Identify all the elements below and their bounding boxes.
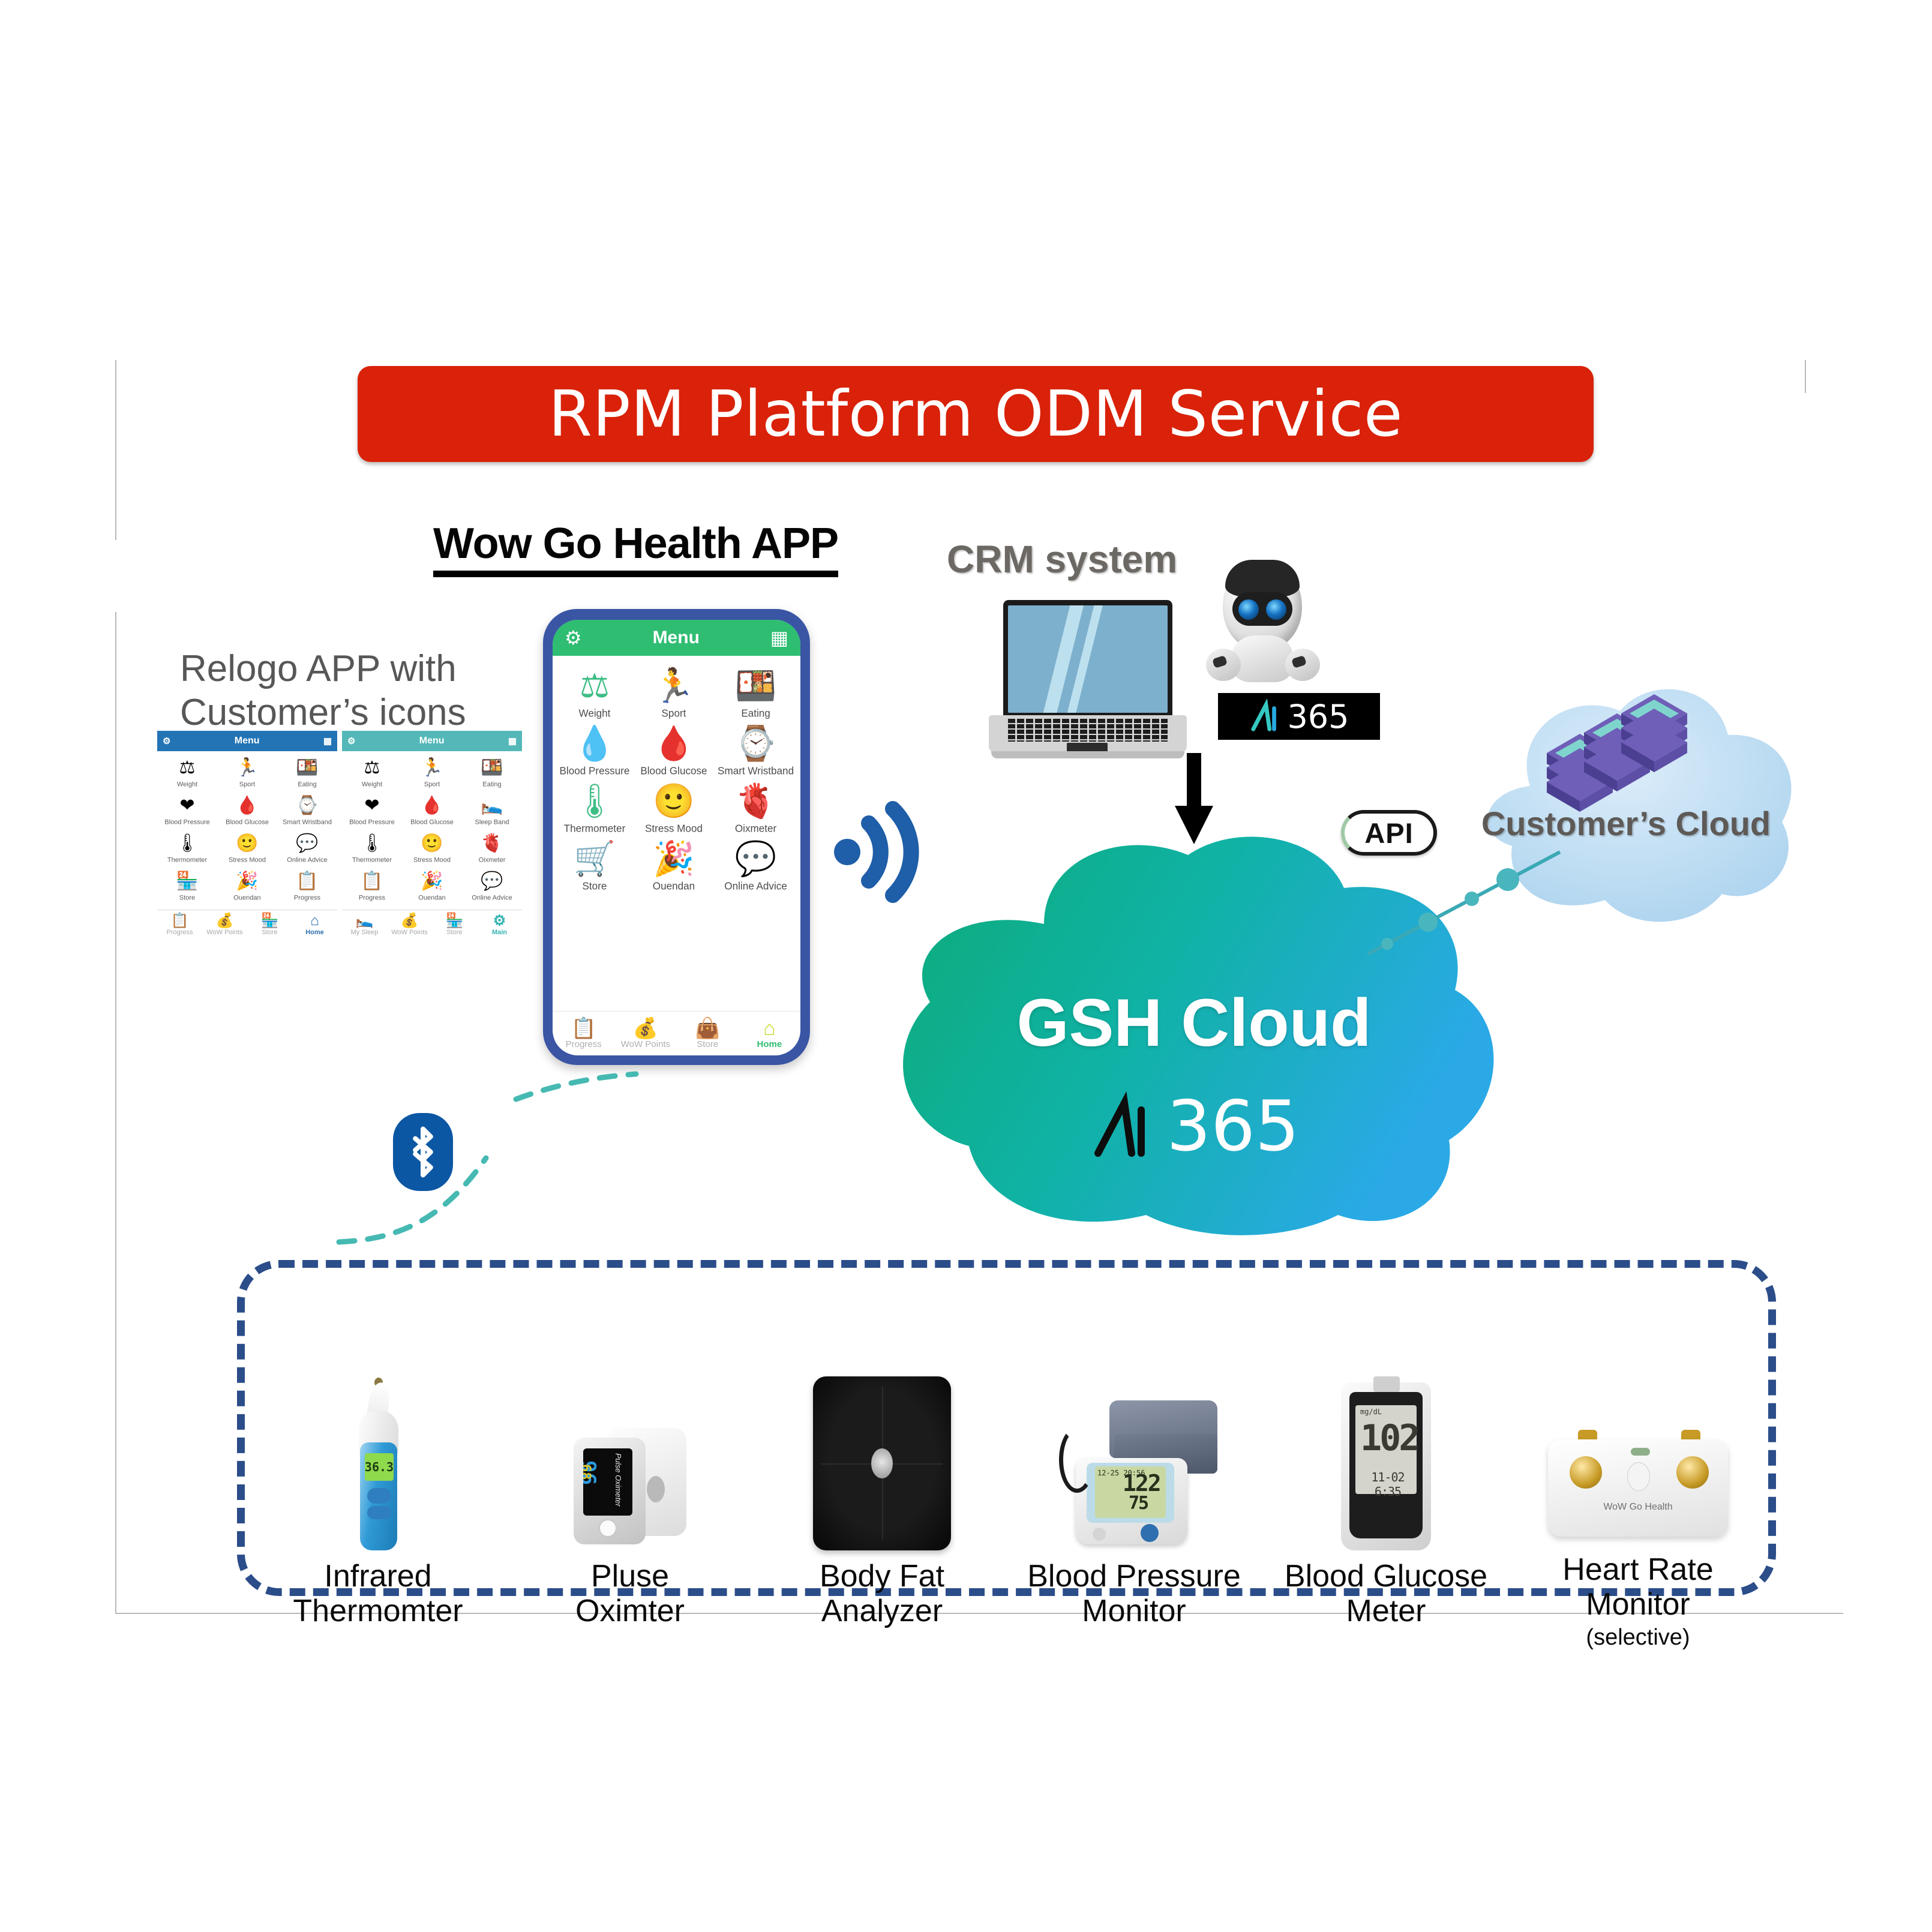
bp-drop-icon: 💧 xyxy=(555,724,634,763)
mini-app-2-item[interactable]: 🏃Sport xyxy=(402,755,462,793)
hrm-brand-label: WoW Go Health xyxy=(1548,1502,1728,1513)
relogo-heading-line1: Relogo APP with xyxy=(180,647,516,691)
mini-app-nav-label: Store xyxy=(262,929,277,936)
mini-app-2-item[interactable]: 🫀Oixmeter xyxy=(462,830,522,868)
ai-mark xyxy=(1249,699,1283,734)
phone-menu-item-label: Weight xyxy=(559,708,631,720)
glucose-drop-icon: 🩸 xyxy=(634,724,713,763)
blood-pressure-monitor-icon: 12-25 20:56 122 75 xyxy=(1008,1370,1260,1550)
mini-app-2-item[interactable]: 🌡Thermometer xyxy=(342,830,402,868)
phone-nav-label: WoW Points xyxy=(621,1039,670,1049)
device-label: Pluse Oximter xyxy=(504,1559,756,1630)
bp-diastolic: 75 xyxy=(1129,1493,1148,1514)
runner-icon: 🏃 xyxy=(634,667,713,705)
phone-menu-item[interactable]: 🏃Sport xyxy=(634,667,713,721)
gear-icon[interactable]: ⚙ xyxy=(565,626,582,649)
mini-app-item-label: Blood Pressure xyxy=(344,818,400,826)
oximeter-screen-title: Pulse Oximeter xyxy=(614,1453,623,1507)
mini-app-item-label: Sleep Band xyxy=(464,818,520,826)
qr-icon[interactable]: ▦ xyxy=(323,736,332,746)
phone-menu-item-label: Smart Wristband xyxy=(718,766,794,778)
page-title: RPM Platform ODM Service xyxy=(548,377,1403,451)
sleep-icon: 🛌 xyxy=(462,794,522,817)
bp-monitor-icon: ❤ xyxy=(342,794,402,817)
mini-app-nav-label: WoW Points xyxy=(206,929,242,936)
device-label: Blood Glucose Meter xyxy=(1260,1559,1512,1630)
mini-app-2-item[interactable]: 🍱Eating xyxy=(462,755,522,793)
mini-app-1-item[interactable]: 🏃Sport xyxy=(217,755,277,793)
phone-nav-label: Progress xyxy=(566,1039,602,1049)
phone-nav-label: Store xyxy=(697,1039,718,1049)
mini-app-2-title: Menu xyxy=(355,736,508,746)
phone-menu-item[interactable]: ⚖Weight xyxy=(555,667,634,721)
mini-app-nav-label: Main xyxy=(492,929,507,936)
glucose-meter-icon: 🩸 xyxy=(217,794,277,817)
bp-monitor-icon: ❤ xyxy=(157,794,217,817)
device-pulse-oximeter[interactable]: Pulse Oximeter 96 68 Pluse Oximter xyxy=(504,1370,756,1630)
face-icon: 🙂 xyxy=(634,782,713,820)
mini-app-2-grid: ⚖Weight🏃Sport🍱Eating❤Blood Pressure🩸Bloo… xyxy=(342,751,522,906)
device-label: Body Fat Analyzer xyxy=(756,1559,1008,1630)
chat-advice-icon: 💬 xyxy=(277,832,337,855)
phone-menu-item-label: Thermometer xyxy=(559,823,631,835)
mini-app-2-item[interactable]: 📋Progress xyxy=(342,868,402,906)
device-label-line1: Pluse xyxy=(504,1559,756,1594)
mini-app-item-label: Online Advice xyxy=(464,894,520,902)
device-label-line2: Analyzer xyxy=(756,1594,1008,1629)
phone-menu-item-label: Online Advice xyxy=(718,881,794,893)
face-icon: 🙂 xyxy=(402,832,462,855)
phone-menu-item[interactable]: 🛒Store xyxy=(555,839,634,893)
mini-app-1-header: ⚙ Menu ▦ xyxy=(157,731,337,751)
gsh-cloud-label: GSH Cloud xyxy=(864,984,1524,1061)
device-label: Blood Pressure Monitor xyxy=(1008,1559,1260,1630)
mini-app-2-item[interactable]: 🎉Ouendan xyxy=(402,868,462,906)
phone-menu-item-label: Blood Pressure xyxy=(559,766,631,778)
device-label-line1: Blood Glucose xyxy=(1260,1559,1512,1594)
phone-menu-item-label: Sport xyxy=(638,708,710,720)
glucose-value: 102 xyxy=(1360,1417,1418,1459)
gear-icon[interactable]: ⚙ xyxy=(163,736,170,746)
sleep-icon: 🛌 xyxy=(342,913,387,929)
gsh-cloud-logo-text: 365 xyxy=(1166,1086,1299,1167)
mini-app-1-item[interactable]: 💬Online Advice xyxy=(277,830,337,868)
mini-app-1-item[interactable]: ⚖Weight xyxy=(157,755,217,793)
mini-app-item-label: Oixmeter xyxy=(464,856,520,864)
mini-app-2-nav-item[interactable]: 💰WoW Points xyxy=(387,913,432,936)
mini-app-item-label: Sport xyxy=(220,781,275,788)
wristband-icon: ⌚ xyxy=(713,724,798,763)
blood-glucose-meter-icon: mg/dL 102 11-02 6:35 xyxy=(1260,1370,1512,1550)
wow-app-heading: Wow Go Health APP xyxy=(433,519,838,577)
pulse-oximeter-icon: Pulse Oximeter 96 68 xyxy=(504,1370,756,1550)
phone-menu-item[interactable]: 🩸Blood Glucose xyxy=(634,724,713,778)
device-label: Infrared Thermomter xyxy=(252,1559,504,1630)
relogo-app-screen-1[interactable]: ⚙ Menu ▦ ⚖Weight🏃Sport🍱Eating❤Blood Pres… xyxy=(157,731,337,936)
coin-icon: 💰 xyxy=(202,913,247,929)
phone-menu-item[interactable]: 💬Online Advice xyxy=(713,839,798,893)
mini-app-2-nav-item[interactable]: ⚙Main xyxy=(477,913,522,936)
phone-menu-item-label: Ouendan xyxy=(638,881,710,893)
phone-bottom-nav: 📋Progress💰WoW Points👜Store⌂Home xyxy=(553,1011,800,1055)
robot-icon xyxy=(1206,561,1320,699)
chat-advice-icon: 💬 xyxy=(462,870,522,893)
device-label-line1: Blood Pressure xyxy=(1008,1559,1260,1594)
mini-app-item-label: Smart Wristband xyxy=(280,818,335,826)
ai365-logo-badge: 365 xyxy=(1218,693,1380,740)
clipboard-icon: 📋 xyxy=(157,913,202,929)
heart-rate-monitor-icon: WoW Go Health xyxy=(1512,1394,1764,1544)
phone-nav-item[interactable]: ⌂Home xyxy=(739,1018,800,1049)
mini-app-nav-label: My Sleep xyxy=(351,929,379,936)
phone-menu-item[interactable]: 💧Blood Pressure xyxy=(555,724,634,778)
wristband-icon: ⌚ xyxy=(277,794,337,817)
thermometer-icon: 🌡 xyxy=(342,832,402,855)
relogo-heading: Relogo APP with Customer’s icons xyxy=(180,647,516,734)
phone-app-title: Menu xyxy=(582,628,770,648)
mini-app-item-label: Thermometer xyxy=(160,856,215,864)
phone-nav-item[interactable]: 💰WoW Points xyxy=(614,1018,676,1049)
device-label-line2: Meter xyxy=(1260,1594,1512,1629)
mini-app-nav-label: Store xyxy=(446,929,462,936)
phone-nav-item[interactable]: 📋Progress xyxy=(553,1018,614,1049)
mini-app-2-item[interactable]: 🙂Stress Mood xyxy=(402,830,462,868)
gear-icon[interactable]: ⚙ xyxy=(347,736,355,746)
thermometer-reading: 36.3 xyxy=(365,1453,394,1481)
clipboard-icon: 📋 xyxy=(277,870,337,893)
mini-app-1-title: Menu xyxy=(170,736,323,746)
home-icon: ⌂ xyxy=(739,1018,800,1039)
phone-menu-item-label: Stress Mood xyxy=(638,823,710,835)
cheer-icon: 🎉 xyxy=(217,870,277,893)
meal-icon: 🍱 xyxy=(277,757,337,779)
glucose-unit: mg/dL xyxy=(1360,1408,1382,1416)
mini-app-item-label: Blood Glucose xyxy=(220,818,275,826)
phone-menu-item-label: Oixmeter xyxy=(718,823,794,835)
customer-cloud-label: Customer’s Cloud xyxy=(1440,804,1812,843)
scale-icon: ⚖ xyxy=(342,757,402,779)
phone-menu-item[interactable]: 🎉Ouendan xyxy=(634,839,713,893)
frame-guide-left xyxy=(115,360,116,540)
mini-app-1-item[interactable]: ⌚Smart Wristband xyxy=(277,793,337,830)
phone-menu-item-label: Store xyxy=(559,881,631,893)
mini-app-2-item[interactable]: 💬Online Advice xyxy=(462,868,522,906)
cheer-icon: 🎉 xyxy=(634,839,713,878)
phone-menu-item[interactable]: 🙂Stress Mood xyxy=(634,782,713,836)
mini-app-2-item[interactable]: 🩸Blood Glucose xyxy=(402,793,462,830)
phone-menu-item[interactable]: 🍱Eating xyxy=(713,667,798,721)
mini-app-1-item[interactable]: 🩸Blood Glucose xyxy=(217,793,277,830)
runner-icon: 🏃 xyxy=(402,757,462,779)
mini-app-1-nav-item[interactable]: 💰WoW Points xyxy=(202,913,247,936)
mini-app-1-nav: 📋Progress💰WoW Points🏪Store⌂Home xyxy=(157,910,337,936)
device-infrared-thermometer[interactable]: 36.3 Infrared Thermomter xyxy=(252,1370,504,1630)
mini-app-1-nav-item[interactable]: 🏪Store xyxy=(247,913,292,936)
mini-app-1-item[interactable]: 🍱Eating xyxy=(277,755,337,793)
device-body-fat-analyzer[interactable]: Body Fat Analyzer xyxy=(756,1370,1008,1630)
mini-app-2-nav: 🛌My Sleep💰WoW Points🏪Store⚙Main xyxy=(342,910,522,936)
qr-icon[interactable]: ▦ xyxy=(508,736,517,746)
oximeter-pr-value: 68 xyxy=(583,1464,593,1480)
mini-app-item-label: Thermometer xyxy=(344,856,400,864)
bag-icon: 👜 xyxy=(677,1018,739,1039)
mini-app-1-item[interactable]: 📋Progress xyxy=(277,868,337,906)
mini-app-item-label: Blood Pressure xyxy=(160,818,215,826)
api-dotted-connector xyxy=(1362,840,1674,960)
ai-mark xyxy=(1088,1091,1160,1163)
phone-menu-item[interactable]: 🫀Oixmeter xyxy=(713,782,798,836)
clipboard-icon: 📋 xyxy=(342,870,402,893)
face-icon: 🙂 xyxy=(217,832,277,855)
device-label-line2: Thermomter xyxy=(252,1594,504,1629)
mini-app-2-header: ⚙ Menu ▦ xyxy=(342,731,522,751)
clipboard-icon: 📋 xyxy=(553,1018,614,1039)
thermometer-icon: 🌡 xyxy=(157,832,217,855)
device-heart-rate-monitor[interactable]: WoW Go Health Heart Rate Monitor (select… xyxy=(1512,1394,1764,1651)
device-label-sub: (selective) xyxy=(1512,1625,1764,1651)
ear-thermometer-icon: 36.3 xyxy=(252,1370,504,1550)
mini-app-item-label: Eating xyxy=(280,781,335,788)
phone-app-header: ⚙ Menu ▦ xyxy=(553,620,800,656)
phone-menu-item[interactable]: 🌡Thermometer xyxy=(555,782,634,836)
slide-canvas: RPM Platform ODM Service Wow Go Health A… xyxy=(0,0,1932,1932)
meal-icon: 🍱 xyxy=(462,757,522,779)
device-label: Heart Rate Monitor xyxy=(1512,1552,1764,1623)
mini-app-1-item[interactable]: 🎉Ouendan xyxy=(217,868,277,906)
mini-app-1-item[interactable]: 🙂Stress Mood xyxy=(217,830,277,868)
mini-app-nav-label: Home xyxy=(305,929,324,936)
coin-icon: 💰 xyxy=(614,1018,676,1039)
crm-heading: CRM system xyxy=(947,537,1177,581)
mini-app-item-label: Eating xyxy=(464,781,520,788)
mini-app-item-label: Weight xyxy=(344,781,400,788)
oximeter-icon: 🫀 xyxy=(462,832,522,855)
mini-app-2-nav-item[interactable]: 🏪Store xyxy=(432,913,477,936)
mini-app-item-label: Progress xyxy=(344,894,400,902)
coin-icon: 💰 xyxy=(387,913,432,929)
mini-app-item-label: Ouendan xyxy=(404,894,460,902)
phone-menu-item-label: Blood Glucose xyxy=(638,766,710,778)
gear-icon: ⚙ xyxy=(477,913,522,929)
device-label-line2: Monitor xyxy=(1008,1594,1260,1629)
phone-nav-label: Home xyxy=(757,1039,782,1049)
laptop-icon xyxy=(989,600,1187,762)
body-fat-scale-icon xyxy=(756,1370,1008,1550)
mini-app-2-item[interactable]: 🛌Sleep Band xyxy=(462,793,522,830)
frame-guide-right xyxy=(1805,360,1806,393)
ai365-logo-text: 365 xyxy=(1287,698,1349,736)
mini-app-item-label: Weight xyxy=(160,781,215,788)
mini-app-nav-label: Progress xyxy=(166,929,193,936)
phone-menu-item[interactable]: ⌚Smart Wristband xyxy=(713,724,798,778)
glucose-meter-icon: 🩸 xyxy=(402,794,462,817)
shop-icon: 🏪 xyxy=(432,913,477,929)
phone-nav-item[interactable]: 👜Store xyxy=(677,1018,739,1049)
device-label-line1: Infrared xyxy=(252,1559,504,1594)
device-label-line1: Body Fat xyxy=(756,1559,1008,1594)
shop-icon: 🏪 xyxy=(157,870,217,893)
bluetooth-dashed-connector xyxy=(336,1068,672,1254)
runner-icon: 🏃 xyxy=(217,757,277,779)
meal-icon: 🍱 xyxy=(713,667,798,705)
page-title-banner: RPM Platform ODM Service xyxy=(358,366,1594,462)
mini-app-2-item[interactable]: ⚖Weight xyxy=(342,755,402,793)
frame-guide-left2 xyxy=(115,612,116,1614)
mini-app-item-label: Ouendan xyxy=(220,894,275,902)
devices-row: 36.3 Infrared Thermomter Pulse Oximeter … xyxy=(252,1269,1764,1629)
cheer-icon: 🎉 xyxy=(402,870,462,893)
mini-app-1-nav-item[interactable]: 📋Progress xyxy=(157,913,202,936)
mini-app-1-item[interactable]: 🌡Thermometer xyxy=(157,830,217,868)
mini-app-1-grid: ⚖Weight🏃Sport🍱Eating❤Blood Pressure🩸Bloo… xyxy=(157,751,337,906)
mini-app-2-item[interactable]: ❤Blood Pressure xyxy=(342,793,402,830)
mini-app-item-label: Blood Glucose xyxy=(404,818,460,826)
wow-go-health-phone-mockup[interactable]: ⚙ Menu ▦ ⚖Weight🏃Sport🍱Eating💧Blood Pres… xyxy=(543,609,810,1065)
thermometer-icon: 🌡 xyxy=(555,782,634,820)
shop-icon: 🏪 xyxy=(247,913,292,929)
phone-screen: ⚙ Menu ▦ ⚖Weight🏃Sport🍱Eating💧Blood Pres… xyxy=(553,620,800,1055)
scale-icon: ⚖ xyxy=(555,667,634,705)
mini-app-item-label: Progress xyxy=(280,894,335,902)
device-label-line2: Monitor xyxy=(1512,1587,1764,1622)
relogo-app-screen-2[interactable]: ⚙ Menu ▦ ⚖Weight🏃Sport🍱Eating❤Blood Pres… xyxy=(342,731,522,936)
mini-app-1-item[interactable]: ❤Blood Pressure xyxy=(157,793,217,830)
phone-menu-grid: ⚖Weight🏃Sport🍱Eating💧Blood Pressure🩸Bloo… xyxy=(553,656,800,1011)
device-blood-glucose-meter[interactable]: mg/dL 102 11-02 6:35 Blood Glucose Meter xyxy=(1260,1370,1512,1630)
chat-advice-icon: 💬 xyxy=(713,839,798,878)
gsh-cloud-logo: 365 xyxy=(864,1086,1524,1167)
mini-app-item-label: Sport xyxy=(404,781,460,788)
glucose-time: 11-02 6:35 xyxy=(1359,1470,1417,1499)
device-label-line1: Heart Rate xyxy=(1512,1552,1764,1588)
oximeter-icon: 🫀 xyxy=(713,782,798,820)
mini-app-1-nav-item[interactable]: ⌂Home xyxy=(292,913,337,936)
device-label-line2: Oximter xyxy=(504,1594,756,1629)
phone-menu-item-label: Eating xyxy=(718,708,794,720)
mini-app-nav-label: WoW Points xyxy=(391,929,427,936)
mini-app-item-label: Stress Mood xyxy=(404,856,460,864)
mini-app-1-item[interactable]: 🏪Store xyxy=(157,868,217,906)
mini-app-item-label: Stress Mood xyxy=(220,856,275,864)
mini-app-item-label: Online Advice xyxy=(280,856,335,864)
device-blood-pressure-monitor[interactable]: 12-25 20:56 122 75 Blood Pressure Monito… xyxy=(1008,1370,1260,1630)
cart-icon: 🛒 xyxy=(555,839,634,878)
home-icon: ⌂ xyxy=(292,913,337,929)
qr-icon[interactable]: ▦ xyxy=(770,626,788,649)
mini-app-2-nav-item[interactable]: 🛌My Sleep xyxy=(342,913,387,936)
mini-app-item-label: Store xyxy=(160,894,215,902)
scale-icon: ⚖ xyxy=(157,757,217,779)
relogo-heading-line2: Customer’s icons xyxy=(180,691,516,734)
